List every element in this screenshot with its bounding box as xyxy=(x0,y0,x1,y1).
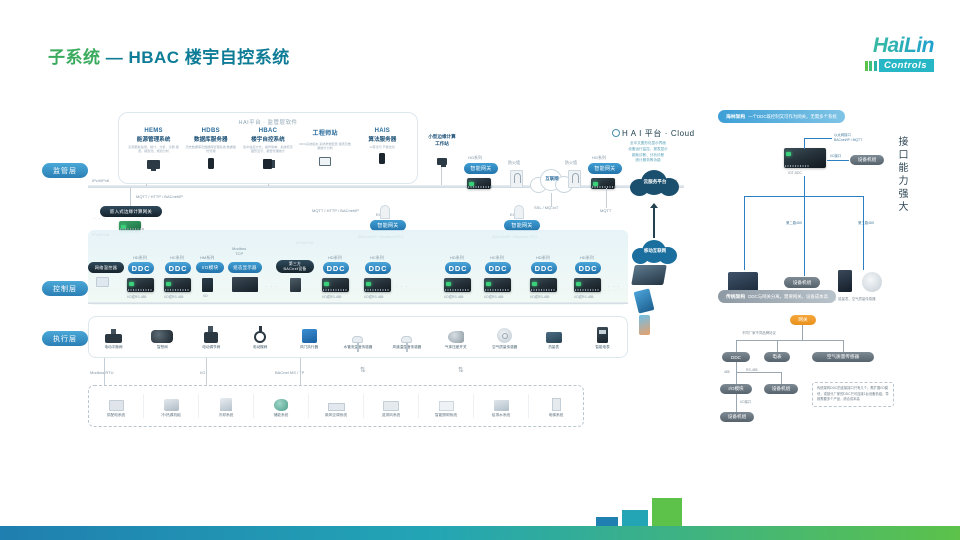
control-ellipsis-mid: · · · xyxy=(266,284,278,289)
io-port-label: I/O xyxy=(203,294,208,298)
execution-layer-card: 电动平衡阀 智慧阀 电动调节阀 电动蝶阀 风门执行器 水管流温度传感器 xyxy=(88,316,628,358)
exec-label-7: 气体压差开关 xyxy=(431,345,480,350)
duct-humidity-sensor-icon xyxy=(382,324,431,343)
iot-ddc-label: IOT-DDC xyxy=(788,171,802,175)
ddc4-device-icon xyxy=(364,278,391,292)
monitor-icon xyxy=(128,157,180,169)
ddc3-device-icon xyxy=(322,278,349,292)
control-node-ddc-8[interactable]: DDC xyxy=(575,262,601,274)
hbac-code: HBAC xyxy=(242,128,294,134)
exec-item-1[interactable]: 智慧阀 xyxy=(138,324,187,350)
iot-ddc-device-icon xyxy=(784,148,826,168)
traditional-node-io-module[interactable]: I/O模块 xyxy=(720,384,752,394)
ddc8-series: HD系列 xyxy=(580,255,594,261)
hdbs-desc: 历史数据库及数据库管理系统 数据备份管理 xyxy=(185,145,237,154)
hdbs-code: HDBS xyxy=(185,128,237,134)
ddc4-series: HC系列 xyxy=(370,255,384,261)
firewall1-label: 防火墙 xyxy=(508,160,520,166)
system-label-5: 送排风系统 xyxy=(364,413,418,418)
system-item-4[interactable]: 新风空调系统 xyxy=(309,394,364,418)
aq-sensor-device-icon xyxy=(862,272,882,292)
control-ellipsis-left: · · · xyxy=(94,216,107,222)
exec-item-10[interactable]: 智能电表 xyxy=(578,324,627,350)
layer-badge-execution: 执行层 xyxy=(42,331,88,346)
edge-station-label: 小型边缘计算 工作站 xyxy=(418,134,466,148)
traditional-root-note: 不同厂家不同品牌协议 xyxy=(742,330,776,335)
building-systems-card: 供配电系统 冷/热源机组 冷却系统 储能系统 新风空调系统 送排风系统 智能照明… xyxy=(88,385,584,427)
control-node-third-party-bacnet[interactable]: 第三方 BACnet设备 xyxy=(276,260,314,273)
system-label-0: 供配电系统 xyxy=(89,413,143,418)
energy-storage-icon xyxy=(254,394,308,411)
supervision-card-header: HAI平台 · 监管层软件 xyxy=(119,113,417,126)
protocol-label-mqtt-http-2: MQTT / HTTP / BACnet/IP xyxy=(312,208,359,213)
iot-ddc-io-port-label: I/O接口 xyxy=(830,153,841,158)
exec-item-9[interactable]: 热量表 xyxy=(529,324,578,350)
page-title-main: HBAC 楼宇自控系统 xyxy=(128,48,289,67)
system-item-5[interactable]: 送排风系统 xyxy=(364,394,419,418)
exec-item-3[interactable]: 电动蝶阀 xyxy=(236,324,285,350)
logo-subtext: Controls xyxy=(879,59,934,72)
exec-label-2: 电动调节阀 xyxy=(187,345,236,350)
ddc7-port-label: I/O或RS-485 xyxy=(530,294,549,299)
protocol-label-modbus-rtu: Modbus RTU xyxy=(90,370,114,375)
vertical-slogan: 接口能力强大 xyxy=(894,136,909,214)
control-node-ddc-5[interactable]: DDC xyxy=(445,262,471,274)
cooling-tower-icon xyxy=(199,394,253,411)
ddc2-series: HC系列 xyxy=(170,255,184,261)
traditional-arch-badge-text: DDC与网关分离，需要网关，设备成本高 xyxy=(748,294,828,300)
arrow-glyph-1-icon: ⇅ xyxy=(360,366,366,374)
ddc6-port-label: I/O或RS-485 xyxy=(484,294,503,299)
system-label-2: 冷却系统 xyxy=(199,413,253,418)
iot-ddc-eth-port-label: 以太网接口 xyxy=(834,132,851,137)
pressure-switch-icon xyxy=(431,324,480,343)
control-node-ddc-1[interactable]: DDC xyxy=(128,262,154,274)
exec-item-8[interactable]: 空气质量传感器 xyxy=(480,324,529,350)
damper-actuator-icon xyxy=(285,324,334,343)
gateway2-chip[interactable]: 智能网关 xyxy=(588,163,622,174)
ddc3-series: HD系列 xyxy=(328,255,342,261)
traditional-root-gateway[interactable]: 网关 xyxy=(790,315,816,325)
footer-square-blue xyxy=(596,517,618,526)
exec-label-8: 空气质量传感器 xyxy=(480,345,529,350)
firewall2-icon xyxy=(568,170,581,188)
cloud-platform-icon[interactable]: 云服务平台 xyxy=(630,170,680,196)
control-node-ddc-3[interactable]: DDC xyxy=(323,262,349,274)
exec-item-7[interactable]: 气体压差开关 xyxy=(431,324,480,350)
bus-label-ipv4-left: IPv4/IPv6 xyxy=(92,178,109,183)
supervision-item-engineer-station[interactable]: 工程师站 DDC系统组态 系统参数配置 报表及数据统计分析 xyxy=(299,128,351,169)
exec-item-4[interactable]: 风门执行器 xyxy=(285,324,334,350)
embedded-gateway-chip[interactable]: 嵌入式边缘计算网关 xyxy=(100,206,162,217)
ddc3-port-label: I/O或RS-485 xyxy=(322,294,341,299)
hais-name: 算法服务器 xyxy=(356,135,408,143)
page-title-prefix: 子系统 xyxy=(48,48,101,67)
power-supply-icon xyxy=(89,394,143,411)
footer-bar xyxy=(0,526,960,540)
smart-meter-icon xyxy=(578,324,627,343)
hems-desc: 实现能耗监测、统计、分析、诊断 报表、模型化、规划分析 xyxy=(128,145,180,154)
ddc8-port-label: I/O或RS-485 xyxy=(574,294,593,299)
workstation-icon xyxy=(299,154,351,166)
supervision-item-hais[interactable]: HAIS 算法服务器 AI算法与 节能优化 xyxy=(356,128,408,169)
exec-label-4: 风门执行器 xyxy=(285,345,334,350)
system-item-7[interactable]: 给排水系统 xyxy=(474,394,529,418)
system-item-1[interactable]: 冷/热源机组 xyxy=(144,394,199,418)
system-label-7: 给排水系统 xyxy=(474,413,528,418)
protocol-label-io: I/O xyxy=(200,370,205,375)
ddc2-device-icon xyxy=(164,278,191,292)
modbus-tcp-label: Modbus TCP xyxy=(232,246,246,256)
firewall1-icon xyxy=(510,170,523,188)
ventilation-icon xyxy=(364,394,418,411)
system-label-4: 新风空调系统 xyxy=(309,413,363,418)
brand-logo: HaiLin Controls xyxy=(802,34,934,72)
control-ellipsis-right: · · · xyxy=(608,284,620,289)
phone-icon xyxy=(639,315,650,335)
ssl-mqtt-label: SSL / MQ-IoT xyxy=(534,205,558,210)
supervision-item-hems[interactable]: HEMS 能源管理系统 实现能耗监测、统计、分析、诊断 报表、模型化、规划分析 xyxy=(128,128,180,169)
control-node-ddc-6[interactable]: DDC xyxy=(485,262,511,274)
hailin-arch-badge-text: 一个DDC既控制又可作为网关，无需多个系统 xyxy=(748,114,837,120)
footer-square-teal xyxy=(622,510,648,526)
protocol-label-mqtt: MQTT xyxy=(600,208,611,213)
exec-item-5[interactable]: 水管流温度传感器 xyxy=(334,324,383,350)
ddc1-device-icon xyxy=(127,278,154,292)
hais-code: HAIS xyxy=(356,128,408,134)
traditional-arch-badge: 传统架构 DDC与网关分离，需要网关，设备成本高 xyxy=(718,290,836,303)
page-title: 子系统 — HBAC 楼宇自控系统 xyxy=(48,43,290,68)
footer-square-green xyxy=(652,498,682,526)
cloud-mobile-link xyxy=(653,205,655,238)
engineer-station-code: 工程师站 xyxy=(299,128,351,137)
hbac-desc: 集中监控方式，操作简单，系统稳定 图形显示、报警管理统计 xyxy=(242,145,294,154)
smart-valve-icon xyxy=(138,324,187,343)
exec-label-3: 电动蝶阀 xyxy=(236,345,285,350)
page-title-dash: — xyxy=(106,48,124,67)
layer-badge-control: 控制层 xyxy=(42,281,88,296)
io-series: HM系列 xyxy=(200,255,214,261)
logo-bars-icon xyxy=(865,61,877,71)
ddc4-port-label: I/O或RS-485 xyxy=(364,294,383,299)
lighting-icon xyxy=(419,394,473,411)
engineer-station-desc: DDC系统组态 系统参数配置 报表及数据统计分析 xyxy=(299,142,351,151)
hais-desc: AI算法与 节能优化 xyxy=(356,145,408,149)
ddc8-device-icon xyxy=(574,278,601,292)
iot-ddc-eth-proto-label: BACnet/IP / MQTT xyxy=(834,138,862,142)
gateway1-series: HG系列 xyxy=(468,155,482,161)
arrow-glyph-2-icon: ⇅ xyxy=(458,366,464,374)
system-label-3: 储能系统 xyxy=(254,413,308,418)
ddc1-port-label: I/O或RS-485 xyxy=(127,294,146,299)
firewall2-label: 防火墙 xyxy=(565,160,577,166)
system-item-8[interactable]: 电梯系统 xyxy=(529,394,583,418)
cloud-platform-label: 云服务平台 xyxy=(630,179,680,185)
supervision-item-hdbs[interactable]: HDBS 数据库服务器 历史数据库及数据库管理系统 数据备份管理 xyxy=(185,128,237,169)
system-label-1: 冷/热源机组 xyxy=(144,413,198,418)
third-party-device-icon xyxy=(290,278,301,292)
exec-label-9: 热量表 xyxy=(529,345,578,350)
eg1-antenna-icon xyxy=(380,205,390,219)
logo-wordmark: HaiLin xyxy=(802,34,934,58)
server-icon xyxy=(185,157,237,169)
branch2-port-label: 第二路485 xyxy=(786,220,802,225)
control-node-thermostat[interactable]: 网络温控器 xyxy=(88,262,124,273)
server-icon xyxy=(356,152,408,164)
ddc5-device-icon xyxy=(444,278,471,292)
system-item-2[interactable]: 冷却系统 xyxy=(199,394,254,418)
exec-label-10: 智能电表 xyxy=(578,345,627,350)
hai-platform-title: H A I 平台 · Cloud xyxy=(612,128,695,139)
ddc7-series: HD系列 xyxy=(536,255,550,261)
ddc7-device-icon xyxy=(530,278,557,292)
hmi-display-device-icon xyxy=(232,277,258,292)
ahu-icon xyxy=(309,394,363,411)
system-item-0[interactable]: 供配电系统 xyxy=(89,394,144,418)
edge-station-icon xyxy=(437,158,447,165)
meter-device-icon xyxy=(838,270,852,292)
exec-item-2[interactable]: 电动调节阀 xyxy=(187,324,236,350)
thermostat-device-icon xyxy=(96,277,109,287)
io-module-device-icon xyxy=(202,278,213,292)
hbac-name: 楼宇自控系统 xyxy=(242,135,294,143)
elevator-icon xyxy=(529,394,583,411)
exec-item-0[interactable]: 电动平衡阀 xyxy=(89,324,138,350)
ddc2-port-label: I/O或RS-485 xyxy=(164,294,183,299)
system-item-6[interactable]: 智能照明系统 xyxy=(419,394,474,418)
system-label-6: 智能照明系统 xyxy=(419,413,473,418)
control-ellipsis-mid2: · · · xyxy=(396,284,408,289)
ddc1-series: HD系列 xyxy=(133,255,147,261)
exec-label-1: 智慧阀 xyxy=(138,345,187,350)
ddc5-series: HD系列 xyxy=(450,255,464,261)
traditional-arch-note: 传统架构DDC的连接接口只有几个，需扩展I/O模块，或部分厂家的DDC只可连接1… xyxy=(812,382,894,407)
system-label-8: 电梯系统 xyxy=(529,413,583,418)
mobile-internet-cloud-icon: 移动互联网 xyxy=(632,240,678,264)
gateway1-chip[interactable]: 智能网关 xyxy=(464,163,498,174)
ddc6-device-icon xyxy=(484,278,511,292)
mobile-internet-label: 移动互联网 xyxy=(632,248,678,254)
traditional-edge-label-485: 485 xyxy=(724,370,730,374)
traditional-node-meter[interactable]: 电表 xyxy=(764,352,790,362)
ddc6-series: HC系列 xyxy=(490,255,504,261)
iot-ddc-equip-chip[interactable]: 设备机组 xyxy=(850,155,884,165)
balance-valve-icon xyxy=(89,324,138,343)
gateway2-device-icon xyxy=(591,178,615,189)
layer-badge-supervision: 监管层 xyxy=(42,163,88,178)
control-node-ddc-4[interactable]: DDC xyxy=(365,262,391,274)
control-node-ddc-7[interactable]: DDC xyxy=(531,262,557,274)
traditional-arch-badge-title: 传统架构 xyxy=(726,293,745,300)
pipe-temp-sensor-icon xyxy=(334,324,383,343)
traditional-node-equip-2[interactable]: 设备机组 xyxy=(720,412,754,422)
gateway1-device-icon xyxy=(467,178,491,189)
cloud-link-arrow-icon xyxy=(650,203,658,208)
air-quality-sensor-icon xyxy=(480,324,529,343)
system-item-3[interactable]: 储能系统 xyxy=(254,394,309,418)
protocol-label-mqtt-http-1: MQTT / HTTP / BACnet/IP xyxy=(136,194,183,199)
supervision-item-hbac[interactable]: HBAC 楼宇自控系统 集中监控方式，操作简单，系统稳定 图形显示、报警管理统计 xyxy=(242,128,294,169)
chiller-icon xyxy=(144,394,198,411)
edge-station-link xyxy=(441,167,442,185)
supervision-card: HAI平台 · 监管层软件 HEMS 能源管理系统 实现能耗监测、统计、分析、诊… xyxy=(118,112,418,184)
traditional-edge-label-io: I/O接口 xyxy=(740,399,751,404)
control-node-io-module[interactable]: I/O模块 xyxy=(196,262,224,273)
exec-label-0: 电动平衡阀 xyxy=(89,345,138,350)
traditional-node-aq-sensor[interactable]: 空气质量传感器 xyxy=(812,352,874,362)
hems-name: 能源管理系统 xyxy=(128,135,180,143)
hdbs-name: 数据库服务器 xyxy=(185,135,237,143)
control-node-ddc-2[interactable]: DDC xyxy=(165,262,191,274)
gateway2-series: HG系列 xyxy=(592,155,606,161)
traditional-node-equip-1[interactable]: 设备机组 xyxy=(764,384,798,394)
hai-platform-desc: 全中文图形化显示界面 设备运行监控、报表显示 能耗诊断、分析诊断 统计服务等功能 xyxy=(606,141,690,164)
control-valve-icon xyxy=(187,324,236,343)
hailin-arch-badge: 海林架构 一个DDC既控制又可作为网关，无需多个系统 xyxy=(718,110,845,123)
branch2-equip-chip[interactable]: 设备机组 xyxy=(784,277,820,288)
hai-cloud-glyph-icon xyxy=(612,129,620,137)
butterfly-valve-icon xyxy=(236,324,285,343)
co2-sensor-device-icon xyxy=(728,272,758,292)
hems-code: HEMS xyxy=(128,128,180,134)
ddc5-port-label: I/O或RS-485 xyxy=(444,294,463,299)
hailin-arch-badge-title: 海林架构 xyxy=(726,113,745,120)
footer-decoration xyxy=(0,484,960,540)
control-bus xyxy=(88,302,628,304)
branch3-port-label: 第三路485 xyxy=(858,220,874,225)
tablet-icon xyxy=(634,288,655,313)
heat-meter-icon xyxy=(529,324,578,343)
exec-item-6[interactable]: 风道温湿度传感器 xyxy=(382,324,431,350)
traditional-node-ddc[interactable]: DDC xyxy=(722,352,750,362)
plumbing-icon xyxy=(474,394,528,411)
server-rack-icon xyxy=(242,157,294,169)
laptop-icon xyxy=(631,265,667,285)
eg2-antenna-icon xyxy=(514,205,524,219)
control-node-hmi-display[interactable]: 组态显示器 xyxy=(228,262,262,273)
